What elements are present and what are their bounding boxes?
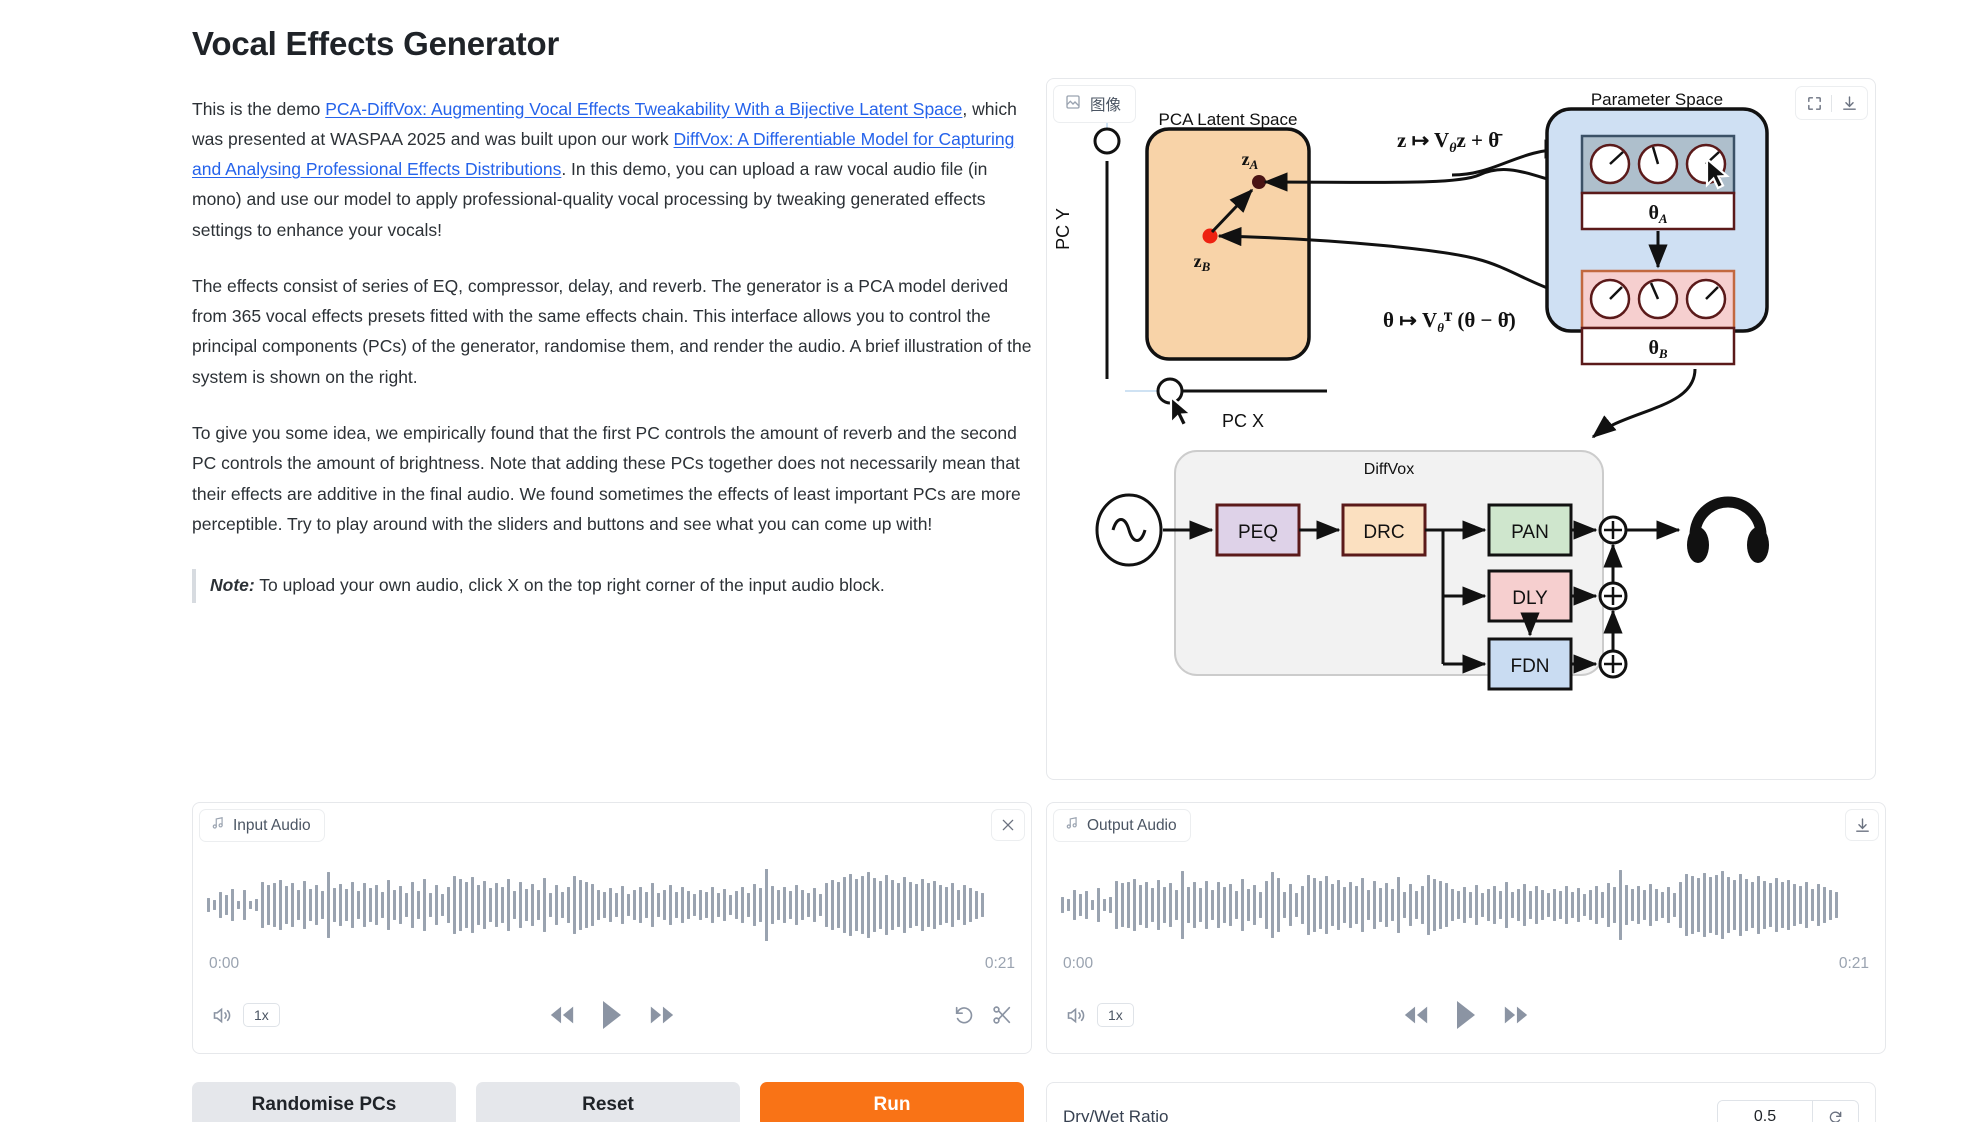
input-audio-tab: Input Audio xyxy=(199,809,325,842)
waveform-bar xyxy=(453,876,456,934)
output-time-row: 0:00 0:21 xyxy=(1063,955,1869,973)
waveform-bar xyxy=(1313,878,1316,932)
waveform-bar xyxy=(717,893,720,917)
waveform-bar xyxy=(321,891,324,919)
waveform-bar xyxy=(1541,890,1544,920)
waveform-bar xyxy=(873,878,876,932)
waveform-bar xyxy=(1499,891,1502,919)
waveform-bar xyxy=(207,898,210,912)
waveform-bar xyxy=(1463,887,1466,923)
waveform-bar xyxy=(981,893,984,917)
waveform-bar xyxy=(561,892,564,918)
waveform-bar xyxy=(1775,878,1778,932)
waveform-bar xyxy=(1709,877,1712,933)
waveform-bar xyxy=(1679,882,1682,928)
output-time-total: 0:21 xyxy=(1839,955,1869,973)
waveform-bar xyxy=(1253,885,1256,925)
waveform-bar xyxy=(1385,883,1388,927)
waveform-bar xyxy=(447,887,450,923)
waveform-bar xyxy=(1139,885,1142,925)
undo-icon[interactable] xyxy=(953,1004,975,1026)
waveform-bar xyxy=(1715,875,1718,935)
waveform-bar xyxy=(1757,876,1760,934)
waveform-bar xyxy=(381,892,384,918)
pc-y-axis-label: PC Y xyxy=(1053,208,1073,250)
waveform-bar xyxy=(1241,879,1244,931)
sum-node-bottom xyxy=(1600,651,1626,677)
sum-node-mid xyxy=(1600,583,1626,609)
block-pan-label: PAN xyxy=(1511,522,1549,543)
note-label: Note: xyxy=(210,575,255,595)
waveform-bar xyxy=(303,881,306,929)
waveform-bar xyxy=(789,891,792,919)
waveform-bar xyxy=(1835,892,1838,918)
download-icon[interactable] xyxy=(1845,809,1879,841)
waveform-bar xyxy=(249,901,252,909)
input-controls: 1x xyxy=(211,995,1013,1035)
dry-wet-ratio-panel: Dry/Wet Ratio 0.5 xyxy=(1046,1082,1876,1122)
waveform-bar xyxy=(1391,889,1394,921)
waveform-bar xyxy=(711,887,714,923)
headphones-icon xyxy=(1687,502,1769,563)
waveform-bar xyxy=(1175,890,1178,920)
output-waveform[interactable] xyxy=(1061,869,1871,941)
play-icon[interactable] xyxy=(601,1000,623,1030)
music-note-icon xyxy=(211,816,225,835)
waveform-bar xyxy=(975,891,978,919)
waveform-bar xyxy=(1235,891,1238,919)
waveform-bar xyxy=(951,883,954,927)
waveform-bar xyxy=(417,891,420,919)
waveform-bar xyxy=(1361,878,1364,932)
input-speed-button[interactable]: 1x xyxy=(243,1003,280,1027)
intro-paragraph-2: The effects consist of series of EQ, com… xyxy=(192,271,1032,392)
equation-forward: z ↦ Vθz + θ̄ xyxy=(1397,128,1503,156)
waveform-bar xyxy=(1487,889,1490,921)
waveform-bar xyxy=(885,875,888,935)
waveform-bar xyxy=(1067,899,1070,911)
waveform-bar xyxy=(1691,876,1694,934)
waveform-bar xyxy=(1343,887,1346,923)
waveform-bar xyxy=(879,881,882,929)
waveform-bar xyxy=(1187,887,1190,923)
waveform-bar xyxy=(387,880,390,930)
waveform-bar xyxy=(855,879,858,931)
waveform-bar xyxy=(891,880,894,930)
waveform-bar xyxy=(1439,881,1442,929)
waveform-bar xyxy=(549,893,552,917)
waveform-bar xyxy=(1247,889,1250,921)
pca-latent-space-title: PCA Latent Space xyxy=(1159,110,1298,129)
volume-icon[interactable] xyxy=(211,1005,232,1026)
waveform-bar xyxy=(603,892,606,918)
waveform-bar xyxy=(1793,884,1796,926)
waveform-bar xyxy=(1469,892,1472,918)
waveform-bar xyxy=(1631,889,1634,921)
waveform-bar xyxy=(1613,887,1616,923)
waveform-bar xyxy=(1277,878,1280,932)
waveform-bar xyxy=(1451,889,1454,921)
waveform-bar xyxy=(1457,891,1460,919)
waveform-bar xyxy=(495,883,498,927)
waveform-bar xyxy=(813,888,816,922)
waveform-bar xyxy=(1199,888,1202,922)
waveform-bar xyxy=(1697,878,1700,932)
waveform-bar xyxy=(1673,893,1676,917)
waveform-bar xyxy=(1145,882,1148,928)
waveform-bar xyxy=(1661,892,1664,918)
waveform-bar xyxy=(543,878,546,932)
waveform-bar xyxy=(291,883,294,927)
note-callout: Note: To upload your own audio, click X … xyxy=(192,569,1032,603)
waveform-bar xyxy=(1319,881,1322,929)
intro-paragraph-3: To give you some idea, we empirically fo… xyxy=(192,418,1032,539)
waveform-bar xyxy=(801,890,804,920)
image-panel-tab: 图像 xyxy=(1053,85,1136,123)
waveform-bar xyxy=(729,895,732,915)
waveform-bar xyxy=(315,885,318,925)
waveform-bar xyxy=(1571,892,1574,918)
waveform-bar xyxy=(1829,890,1832,920)
waveform-bar xyxy=(741,887,744,923)
waveform-bar xyxy=(669,885,672,925)
waveform-bar xyxy=(1325,876,1328,934)
waveform-bar xyxy=(765,869,768,941)
waveform-bar xyxy=(1133,879,1136,931)
waveform-bar xyxy=(783,887,786,923)
waveform-bar xyxy=(903,877,906,933)
waveform-bar xyxy=(555,885,558,925)
waveform-bar xyxy=(759,888,762,922)
waveform-bar xyxy=(225,895,228,915)
waveform-bar xyxy=(573,876,576,934)
fast-forward-icon[interactable] xyxy=(1503,1004,1529,1026)
point-z-a xyxy=(1252,175,1266,189)
waveform-bar xyxy=(1379,888,1382,922)
block-fdn-label: FDN xyxy=(1510,656,1549,677)
waveform-bar xyxy=(1193,882,1196,928)
waveform-bar xyxy=(1445,883,1448,927)
waveform-bar xyxy=(255,899,258,911)
waveform-bar xyxy=(663,890,666,920)
waveform-bar xyxy=(1061,897,1064,913)
close-icon[interactable] xyxy=(991,809,1025,841)
waveform-bar xyxy=(243,890,246,920)
waveform-bar xyxy=(753,884,756,926)
reset-icon[interactable] xyxy=(1812,1101,1858,1122)
waveform-bar xyxy=(393,890,396,920)
waveform-bar xyxy=(435,885,438,925)
waveform-bar xyxy=(1109,897,1112,913)
waveform-bar xyxy=(1511,892,1514,918)
waveform-bar xyxy=(1307,875,1310,935)
waveform-bar xyxy=(411,882,414,928)
theta-b-knobs xyxy=(1591,280,1725,318)
download-icon[interactable] xyxy=(1837,91,1861,115)
theta-a-knobs xyxy=(1591,145,1725,183)
waveform-bar xyxy=(1625,885,1628,925)
waveform-bar xyxy=(963,885,966,925)
parameter-space-title: Parameter Space xyxy=(1591,90,1723,109)
waveform-bar xyxy=(1475,885,1478,925)
waveform-bar xyxy=(1421,886,1424,924)
image-panel-tab-label: 图像 xyxy=(1090,93,1121,115)
input-audio-panel: Input Audio 0:00 0:21 1x xyxy=(192,802,1032,1054)
waveform-bar xyxy=(1367,890,1370,920)
dry-wet-control-group: 0.5 xyxy=(1717,1100,1859,1122)
waveform-bar xyxy=(1817,884,1820,926)
rewind-icon[interactable] xyxy=(549,1004,575,1026)
input-time-total: 0:21 xyxy=(985,955,1015,973)
waveform-bar xyxy=(1157,880,1160,930)
waveform-bar xyxy=(429,893,432,917)
waveform-bar xyxy=(309,889,312,921)
waveform-bar xyxy=(357,891,360,919)
waveform-bar xyxy=(1127,882,1130,928)
waveform-bar xyxy=(969,888,972,922)
play-icon[interactable] xyxy=(1455,1000,1477,1030)
waveform-bar xyxy=(1565,886,1568,924)
waveform-bar xyxy=(1493,886,1496,924)
waveform-bar xyxy=(1523,884,1526,926)
waveform-bar xyxy=(1211,890,1214,920)
waveform-bar xyxy=(1103,899,1106,911)
app-root: Vocal Effects Generator This is the demo… xyxy=(0,0,1980,1122)
page-title: Vocal Effects Generator xyxy=(192,24,1032,64)
waveform-bar xyxy=(1721,871,1724,939)
waveform-bar xyxy=(1577,888,1580,922)
randomise-pcs-button[interactable]: Randomise PCs xyxy=(192,1082,456,1122)
waveform-bar xyxy=(327,872,330,938)
toolbar-divider xyxy=(1831,95,1832,112)
waveform-bar xyxy=(1115,881,1118,929)
waveform-bar xyxy=(1655,889,1658,921)
waveform-bar xyxy=(471,877,474,933)
waveform-bar xyxy=(651,883,654,927)
waveform-bar xyxy=(1643,890,1646,920)
rewind-icon[interactable] xyxy=(1403,1004,1429,1026)
intro-p1-text-a: This is the demo xyxy=(192,99,325,119)
waveform-bar xyxy=(399,886,402,924)
waveform-bar xyxy=(483,881,486,929)
waveform-bar xyxy=(735,891,738,919)
waveform-bar xyxy=(1553,889,1556,921)
equation-inverse: θ ↦ Vθᵀ (θ − θ̄) xyxy=(1383,308,1516,335)
waveform-bar xyxy=(1163,887,1166,923)
image-icon xyxy=(1065,94,1081,115)
waveform-bar xyxy=(591,884,594,926)
waveform-bar xyxy=(279,880,282,930)
waveform-bar xyxy=(375,885,378,925)
waveform-bar xyxy=(807,893,810,917)
waveform-bar xyxy=(261,882,264,928)
waveform-bar xyxy=(537,890,540,920)
waveform-bar xyxy=(1547,893,1550,917)
intro-paragraph-1: This is the demo PCA-DiffVox: Augmenting… xyxy=(192,94,1032,245)
input-waveform[interactable] xyxy=(207,869,1017,941)
waveform-bar xyxy=(501,887,504,923)
waveform-bar xyxy=(1301,886,1304,924)
waveform-bar xyxy=(1769,883,1772,927)
waveform-bar xyxy=(837,882,840,928)
diffvox-title: DiffVox xyxy=(1364,461,1414,478)
waveform-bar xyxy=(1727,877,1730,933)
waveform-bar xyxy=(621,886,624,924)
waveform-bar xyxy=(345,889,348,921)
waveform-bar xyxy=(939,885,942,925)
pca-latent-space-box xyxy=(1147,129,1309,359)
waveform-bar xyxy=(1559,891,1562,919)
output-audio-tab: Output Audio xyxy=(1053,809,1191,842)
waveform-bar xyxy=(1529,891,1532,919)
waveform-bar xyxy=(1733,880,1736,930)
waveform-bar xyxy=(1589,890,1592,920)
waveform-bar xyxy=(285,886,288,924)
waveform-bar xyxy=(609,888,612,922)
diagram-panel: 图像 xyxy=(1046,78,1876,780)
waveform-bar xyxy=(513,891,516,919)
waveform-bar xyxy=(1169,883,1172,927)
waveform-bar xyxy=(1217,882,1220,928)
waveform-bar xyxy=(237,901,240,909)
waveform-bar xyxy=(687,891,690,919)
waveform-bar xyxy=(489,888,492,922)
run-button[interactable]: Run xyxy=(760,1082,1024,1122)
waveform-bar xyxy=(1409,884,1412,926)
waveform-bar xyxy=(771,886,774,924)
waveform-bar xyxy=(699,890,702,920)
waveform-bar xyxy=(633,890,636,920)
waveform-bar xyxy=(1811,889,1814,921)
waveform-bar xyxy=(363,883,366,927)
waveform-bar xyxy=(819,894,822,916)
waveform-bar xyxy=(1205,881,1208,929)
waveform-bar xyxy=(459,879,462,931)
waveform-bar xyxy=(777,890,780,920)
waveform-bar xyxy=(477,885,480,925)
waveform-bar xyxy=(267,885,270,925)
scissors-icon[interactable] xyxy=(991,1004,1013,1026)
waveform-bar xyxy=(1337,880,1340,930)
waveform-bar xyxy=(705,892,708,918)
waveform-bar xyxy=(1073,890,1076,920)
waveform-bar xyxy=(945,887,948,923)
output-time-current: 0:00 xyxy=(1063,955,1093,973)
waveform-bar xyxy=(1595,886,1598,924)
output-audio-panel: Output Audio 0:00 0:21 1x xyxy=(1046,802,1886,1054)
waveform-bar xyxy=(1403,892,1406,918)
fullscreen-icon[interactable] xyxy=(1802,91,1826,115)
waveform-bar xyxy=(921,879,924,931)
waveform-bar xyxy=(1181,871,1184,939)
waveform-bar xyxy=(615,893,618,917)
waveform-bar xyxy=(1373,881,1376,929)
waveform-bar xyxy=(1583,894,1586,916)
waveform-bar xyxy=(1601,892,1604,918)
waveform-bar xyxy=(1427,875,1430,935)
waveform-bar xyxy=(747,893,750,917)
pca-diffvox-paper-link[interactable]: PCA-DiffVox: Augmenting Vocal Effects Tw… xyxy=(325,99,962,119)
action-button-row: Randomise PCs Reset Run xyxy=(192,1082,1024,1122)
waveform-bar xyxy=(831,880,834,930)
waveform-bar xyxy=(1607,883,1610,927)
waveform-bar xyxy=(723,889,726,921)
reset-button[interactable]: Reset xyxy=(476,1082,740,1122)
waveform-bar xyxy=(1259,892,1262,918)
waveform-bar xyxy=(861,876,864,934)
waveform-bar xyxy=(219,892,222,918)
waveform-bar xyxy=(1619,870,1622,940)
waveform-bar xyxy=(1331,884,1334,926)
waveform-bar xyxy=(1505,882,1508,928)
output-speed-button[interactable]: 1x xyxy=(1097,1003,1134,1027)
waveform-bar xyxy=(1097,888,1100,922)
waveform-bar xyxy=(1703,873,1706,937)
block-dly-label: DLY xyxy=(1512,588,1548,609)
music-note-icon xyxy=(1065,816,1079,835)
waveform-bar xyxy=(909,882,912,928)
waveform-bar xyxy=(1805,882,1808,928)
waveform-bar xyxy=(507,879,510,931)
waveform-bar xyxy=(1079,894,1082,916)
input-time-current: 0:00 xyxy=(209,955,239,973)
waveform-bar xyxy=(369,888,372,922)
output-audio-tab-label: Output Audio xyxy=(1087,817,1177,835)
dry-wet-value-input[interactable]: 0.5 xyxy=(1718,1101,1812,1122)
waveform-bar xyxy=(657,893,660,917)
waveform-bar xyxy=(1295,893,1298,917)
dry-wet-ratio-label: Dry/Wet Ratio xyxy=(1063,1107,1169,1122)
waveform-bar xyxy=(1535,886,1538,924)
waveform-bar xyxy=(1355,886,1358,924)
mouse-cursor-axis xyxy=(1171,397,1191,426)
waveform-bar xyxy=(1649,884,1652,926)
arrow-param-to-diffvox xyxy=(1593,369,1695,437)
waveform-bar xyxy=(351,882,354,928)
waveform-bar xyxy=(1151,888,1154,922)
waveform-bar xyxy=(519,882,522,928)
waveform-bar xyxy=(1739,874,1742,936)
waveform-bar xyxy=(1667,887,1670,923)
waveform-bar xyxy=(825,883,828,927)
waveform-bar xyxy=(849,874,852,936)
image-panel-toolbar xyxy=(1795,86,1868,120)
input-time-row: 0:00 0:21 xyxy=(209,955,1015,973)
block-peq-label: PEQ xyxy=(1238,522,1278,543)
waveform-bar xyxy=(795,885,798,925)
volume-icon[interactable] xyxy=(1065,1005,1086,1026)
waveform-bar xyxy=(231,889,234,921)
waveform-bar xyxy=(1787,880,1790,930)
waveform-bar xyxy=(339,884,342,926)
waveform-bar xyxy=(867,872,870,938)
waveform-bar xyxy=(423,879,426,931)
waveform-bar xyxy=(1433,879,1436,931)
waveform-bar xyxy=(639,887,642,923)
note-text: To upload your own audio, click X on the… xyxy=(255,575,885,595)
waveform-bar xyxy=(297,890,300,920)
pc-y-axis-handle xyxy=(1095,129,1119,153)
waveform-bar xyxy=(675,892,678,918)
waveform-bar xyxy=(843,877,846,933)
waveform-bar xyxy=(1265,881,1268,929)
waveform-bar xyxy=(1685,874,1688,936)
waveform-bar xyxy=(1751,882,1754,928)
fast-forward-icon[interactable] xyxy=(649,1004,675,1026)
sum-node-top xyxy=(1600,517,1626,543)
waveform-bar xyxy=(579,880,582,930)
waveform-bar xyxy=(1121,883,1124,927)
